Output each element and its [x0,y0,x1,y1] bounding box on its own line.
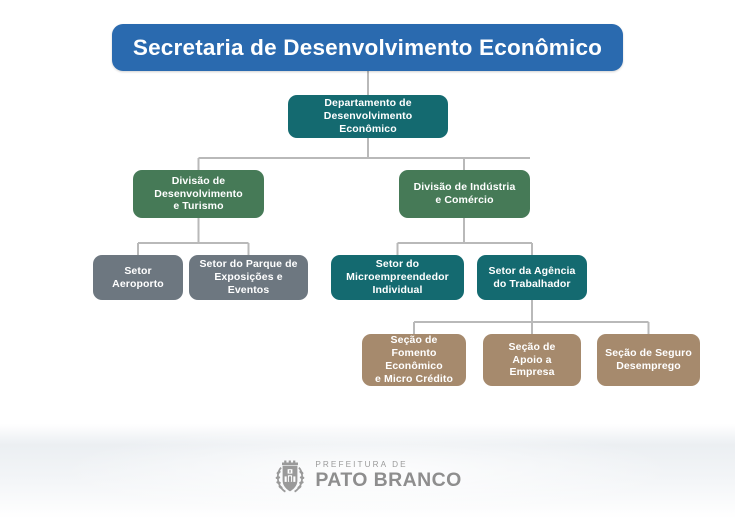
organizational-chart: Secretaria de Desenvolvimento Econômico … [0,0,735,519]
node-setor-agencia-label: Setor da Agência do Trabalhador [489,265,576,291]
footer-logo-text: PREFEITURA DE PATO BRANCO [315,461,461,491]
node-secretaria-label: Secretaria de Desenvolvimento Econômico [133,34,602,61]
node-divisao-desenvolvimento-turismo[interactable]: Divisão de Desenvolvimento e Turismo [133,170,264,218]
node-secretaria[interactable]: Secretaria de Desenvolvimento Econômico [112,24,623,71]
node-setor-aeroporto[interactable]: Setor Aeroporto [93,255,183,300]
node-departamento[interactable]: Departamento de Desenvolvimento Econômic… [288,95,448,138]
node-secao-apoio-empresa[interactable]: Seção de Apoio a Empresa [483,334,581,386]
node-setor-parque-exposicoes[interactable]: Setor do Parque de Exposições e Eventos [189,255,308,300]
node-setor-microempreendedor[interactable]: Setor do Microempreendedor Individual [331,255,464,300]
footer-subtitle: PREFEITURA DE [315,461,461,469]
node-divisao-2-label: Divisão de Indústria e Comércio [414,181,516,207]
node-setor-aeroporto-label: Setor Aeroporto [112,265,164,291]
node-departamento-label: Departamento de Desenvolvimento Econômic… [294,97,442,135]
node-secao-seguro-desemprego[interactable]: Seção de Seguro Desemprego [597,334,700,386]
node-setor-parque-label: Setor do Parque de Exposições e Eventos [195,258,302,296]
node-secao-2-label: Seção de Apoio a Empresa [489,341,575,379]
coat-of-arms-icon [273,455,307,497]
node-divisao-industria-comercio[interactable]: Divisão de Indústria e Comércio [399,170,530,218]
node-secao-3-label: Seção de Seguro Desemprego [605,347,692,373]
footer-logo: PREFEITURA DE PATO BRANCO [0,455,735,497]
footer-title: PATO BRANCO [315,471,461,491]
node-secao-fomento-economico[interactable]: Seção de Fomento Econômico e Micro Crédi… [362,334,466,386]
node-setor-microempreendedor-label: Setor do Microempreendedor Individual [337,258,458,296]
node-setor-agencia-trabalhador[interactable]: Setor da Agência do Trabalhador [477,255,587,300]
node-secao-1-label: Seção de Fomento Econômico e Micro Crédi… [368,334,460,385]
node-divisao-1-label: Divisão de Desenvolvimento e Turismo [154,175,242,213]
